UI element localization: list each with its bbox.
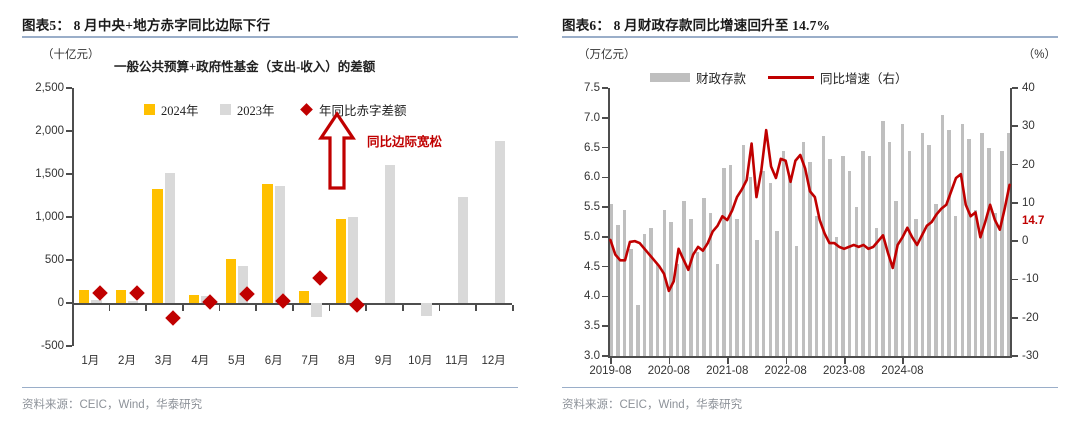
left-source-note: 资料来源：CEIC，Wind，华泰研究: [22, 396, 202, 412]
bar-2024: [189, 295, 199, 303]
x-tickmark: [902, 358, 904, 364]
bar-2023: [275, 186, 285, 303]
right-title-divider: [562, 36, 1058, 38]
x-tick-label: 3月: [155, 352, 173, 368]
y-tick-label-right: 10: [1022, 197, 1062, 209]
x-tick-label: 7月: [301, 352, 319, 368]
y-tickmark: [66, 216, 72, 218]
y-tickmark-right: [1012, 240, 1018, 242]
y-tick-label-left: 6.0: [562, 171, 600, 183]
x-tickmark: [365, 305, 367, 311]
y-tickmark: [66, 173, 72, 175]
x-tickmark: [669, 358, 671, 364]
legend-fiscal-deposits: 财政存款: [650, 68, 746, 87]
y-tick-label-left: 7.0: [562, 112, 600, 124]
x-tickmark: [109, 305, 111, 311]
legend-label-yoy-growth: 同比增速（右）: [820, 68, 908, 87]
bar-2024: [262, 184, 272, 303]
left-title-divider: [22, 36, 518, 38]
right-unit-label-right: （%）: [1023, 46, 1056, 62]
y-tickmark: [66, 130, 72, 132]
x-tick-label: 2019-08: [589, 365, 631, 377]
bar-2024: [79, 290, 89, 303]
x-tickmark: [439, 305, 441, 311]
x-tickmark: [292, 305, 294, 311]
y-tickmark-right: [1012, 317, 1018, 319]
x-tickmark: [329, 305, 331, 311]
bar-2023: [348, 217, 358, 303]
y-tickmark-right: [1012, 87, 1018, 89]
left-plot-area: -50005001,0001,5002,0002,5001月2月3月4月5月6月…: [72, 88, 512, 346]
y-tick-label-left: 4.5: [562, 261, 600, 273]
bar-2023: [128, 301, 138, 303]
y-tickmark-right: [1012, 355, 1018, 357]
y-tick-label: 2,000: [6, 125, 64, 137]
y-tick-label-left: 5.0: [562, 231, 600, 243]
left-figure-title: 图表5： 8 月中央+地方赤字同比边际下行: [22, 14, 270, 34]
y-tick-label-right: 20: [1022, 159, 1062, 171]
y-tickmark: [66, 259, 72, 261]
bar-2024: [226, 259, 236, 303]
figure-page: 图表5： 8 月中央+地方赤字同比边际下行 （十亿元） 一般公共预算+政府性基金…: [0, 0, 1080, 432]
right-unit-label-left: （万亿元）: [578, 46, 636, 62]
y-tickmark: [66, 345, 72, 347]
right-source-note: 资料来源：CEIC，Wind，华泰研究: [562, 396, 742, 412]
diamond-marker: [312, 270, 328, 286]
bar-2024: [299, 291, 309, 303]
x-tick-label: 2023-08: [823, 365, 865, 377]
x-tick-label: 12月: [482, 352, 506, 368]
x-tick-label: 2022-08: [765, 365, 807, 377]
x-tick-label: 1月: [81, 352, 99, 368]
x-tick-label: 6月: [265, 352, 283, 368]
diamond-marker: [129, 285, 145, 301]
x-tick-label: 2024-08: [881, 365, 923, 377]
x-tickmark: [610, 358, 612, 364]
bar-2023: [495, 141, 505, 303]
y-tick-label-left: 5.5: [562, 201, 600, 213]
y-tick-label: 0: [6, 297, 64, 309]
yoy-growth-line: [608, 88, 1012, 356]
diamond-marker: [166, 311, 182, 327]
x-tickmark: [182, 305, 184, 311]
y-tickmark: [66, 302, 72, 304]
y-tick-label: 2,500: [6, 82, 64, 94]
y-tick-label: 500: [6, 254, 64, 266]
y-tickmark-right: [1012, 125, 1018, 127]
y-tick-label-left: 4.0: [562, 290, 600, 302]
x-tick-label: 2021-08: [706, 365, 748, 377]
left-unit-label: （十亿元）: [42, 46, 100, 62]
diamond-marker: [92, 285, 108, 301]
x-tickmark: [727, 358, 729, 364]
right-source-divider: [562, 387, 1058, 388]
bar-2023: [165, 173, 175, 303]
x-tickmark: [402, 305, 404, 311]
x-tick-label: 2020-08: [648, 365, 690, 377]
x-tick-label: 10月: [408, 352, 432, 368]
y-tickmark-right: [1012, 164, 1018, 166]
x-tickmark: [219, 305, 221, 311]
y-tick-label-right: -10: [1022, 273, 1062, 285]
y-tick-label-left: 6.5: [562, 142, 600, 154]
right-panel: 图表6： 8 月财政存款同比增速回升至 14.7% （万亿元） （%） 财政存款…: [540, 0, 1080, 432]
bar-2023: [385, 165, 395, 303]
left-panel: 图表5： 8 月中央+地方赤字同比边际下行 （十亿元） 一般公共预算+政府性基金…: [0, 0, 540, 432]
bar-2024: [116, 290, 126, 303]
x-tick-label: 9月: [375, 352, 393, 368]
y-tickmark-right: [1012, 202, 1018, 204]
bar-2023: [311, 303, 321, 317]
bar-2024: [152, 189, 162, 303]
x-tickmark: [844, 358, 846, 364]
x-tickmark: [255, 305, 257, 311]
y-tick-label-left: 3.5: [562, 320, 600, 332]
end-value-label: 14.7: [1022, 215, 1044, 227]
y-tick-label-left: 7.5: [562, 82, 600, 94]
y-tickmark-right: [1012, 279, 1018, 281]
y-tick-label-right: 30: [1022, 120, 1062, 132]
y-tick-label: 1,000: [6, 211, 64, 223]
bar-2023: [458, 197, 468, 303]
legend-label-fiscal-deposits: 财政存款: [696, 68, 746, 87]
x-tick-label: 2月: [118, 352, 136, 368]
left-source-divider: [22, 387, 518, 388]
y-tick-label-right: 0: [1022, 235, 1062, 247]
bar-2024: [336, 219, 346, 303]
x-tick-label: 4月: [191, 352, 209, 368]
y-tick-label-left: 3.0: [562, 350, 600, 362]
x-tick-label: 8月: [338, 352, 356, 368]
left-axis-title: 一般公共预算+政府性基金（支出-收入）的差额: [114, 56, 375, 75]
bar-2023: [421, 303, 431, 316]
y-tick-label-right: -20: [1022, 312, 1062, 324]
right-figure-title: 图表6： 8 月财政存款同比增速回升至 14.7%: [562, 14, 830, 34]
y-tick-label: -500: [6, 340, 64, 352]
legend-bar-icon: [650, 73, 690, 82]
y-tick-label-right: -30: [1022, 350, 1062, 362]
legend-line-icon: [768, 76, 814, 79]
x-tickmark: [145, 305, 147, 311]
x-tickmark: [475, 305, 477, 311]
y-tick-label: 1,500: [6, 168, 64, 180]
x-tick-label: 11月: [445, 352, 468, 368]
legend-yoy-growth: 同比增速（右）: [768, 68, 908, 87]
x-tickmark: [72, 305, 74, 311]
y-tick-label-right: 40: [1022, 82, 1062, 94]
right-plot-area: 3.03.54.04.55.05.56.06.57.07.5-30-20-100…: [608, 88, 1012, 356]
x-tickmark: [786, 358, 788, 364]
x-tick-label: 5月: [228, 352, 246, 368]
x-tickmark: [512, 305, 514, 311]
y-tickmark: [66, 87, 72, 89]
